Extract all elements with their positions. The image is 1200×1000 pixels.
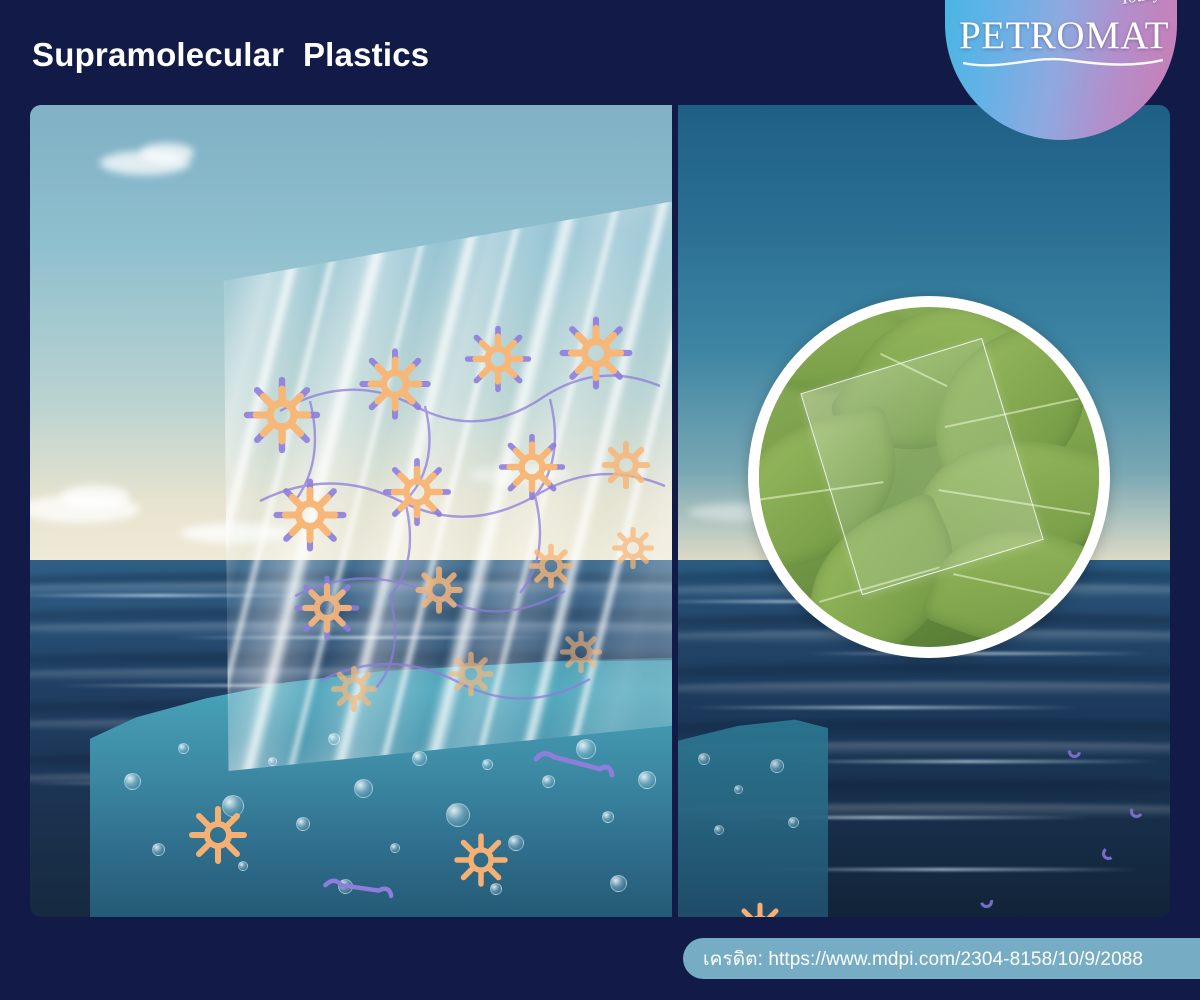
supramolecular-molecule (516, 531, 586, 601)
bubble (412, 751, 427, 766)
bubble (446, 803, 470, 827)
leaf-inset-circle (748, 296, 1110, 658)
supramolecular-molecule (552, 309, 640, 397)
supramolecular-molecule (402, 553, 476, 627)
cloud (140, 143, 194, 163)
bubble (638, 771, 656, 789)
transparent-plastic-sheet (200, 201, 672, 771)
dissolved-molecule-fragment (320, 869, 400, 905)
bubble (714, 825, 724, 835)
brand-tagline: Today (1119, 0, 1163, 9)
bubble (390, 843, 400, 853)
supramolecular-molecule (266, 471, 354, 559)
bubble (482, 759, 493, 770)
dissolved-molecule (728, 895, 792, 917)
bubble (296, 817, 310, 831)
bubble (698, 753, 710, 765)
bubble (178, 743, 189, 754)
supramolecular-molecule (588, 427, 664, 503)
supramolecular-molecule (492, 427, 572, 507)
brand-logo-inner: PETROMAT (945, 16, 1177, 55)
main-illustration (30, 105, 1170, 917)
bubble (354, 779, 373, 798)
underwater-cutaway (678, 707, 828, 917)
bubble (770, 759, 784, 773)
supramolecular-molecule (548, 619, 614, 685)
page-title: Supramolecular Plastics (32, 36, 429, 74)
bubble (124, 773, 141, 790)
supramolecular-molecule (436, 639, 506, 709)
leaf-photo (759, 307, 1099, 647)
supramolecular-molecule (376, 451, 458, 533)
bubble (610, 875, 627, 892)
supramolecular-molecule (458, 319, 538, 399)
supramolecular-molecule (352, 341, 438, 427)
panel-divider (672, 105, 678, 917)
dissolved-molecule (180, 797, 256, 873)
wave-underline-icon (963, 54, 1163, 70)
dissolved-molecule (446, 825, 516, 895)
bubble (788, 817, 799, 828)
supramolecular-molecule (600, 515, 666, 581)
bubble (602, 811, 614, 823)
cloud (60, 485, 130, 509)
dissolved-molecule-fragment (530, 743, 620, 783)
credit-text[interactable]: เครดิต: https://www.mdpi.com/2304-8158/1… (703, 944, 1143, 974)
supramolecular-molecule (288, 569, 366, 647)
bubble (734, 785, 743, 794)
credit-bar: เครดิต: https://www.mdpi.com/2304-8158/1… (683, 938, 1200, 979)
illustration-left-panel (30, 105, 672, 917)
brand-wordmark: PETROMAT (945, 16, 1177, 55)
supramolecular-molecule (318, 653, 390, 725)
bubble (152, 843, 165, 856)
supramolecular-molecule (236, 369, 328, 461)
